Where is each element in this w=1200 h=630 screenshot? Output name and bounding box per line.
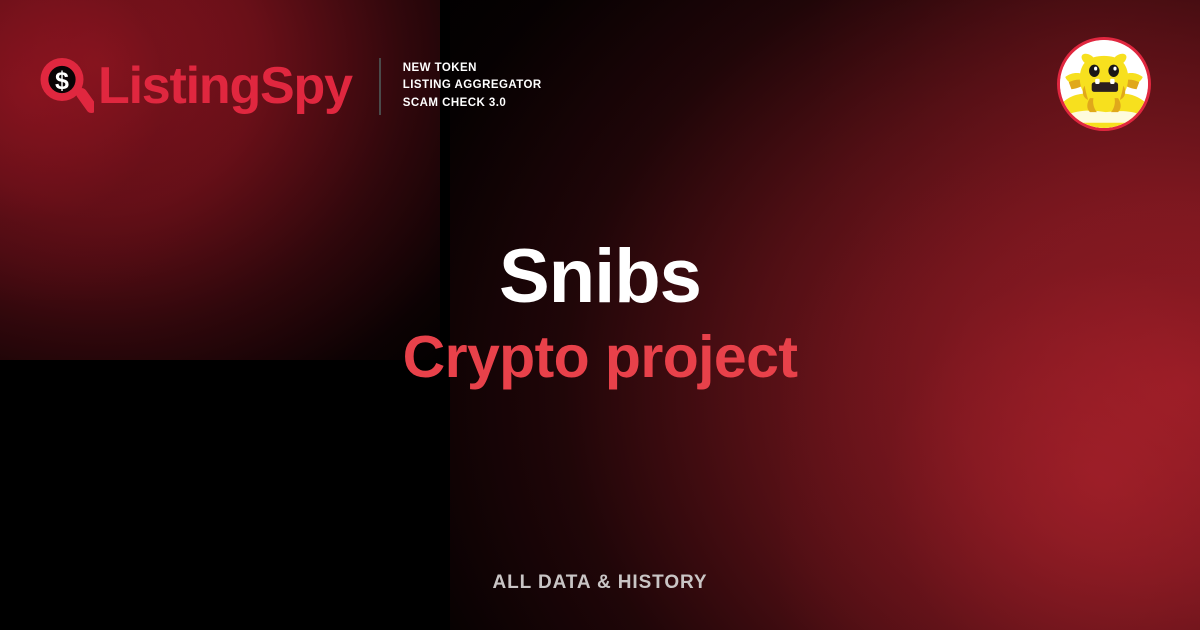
footer: ALL DATA & HISTORY [0, 572, 1200, 594]
brand-tagline: NEW TOKEN LISTING AGGREGATOR SCAM CHECK … [403, 60, 542, 112]
brand-logo[interactable]: $ ListingSpy NEW TOKEN LISTING AGGREGATO… [36, 55, 542, 117]
header: $ ListingSpy NEW TOKEN LISTING AGGREGATO… [0, 0, 1200, 176]
footer-caption: ALL DATA & HISTORY [493, 572, 708, 593]
page-subtitle: Crypto project [0, 325, 1200, 390]
brand-wordmark: ListingSpy [98, 60, 352, 112]
page-title: Snibs [0, 236, 1200, 318]
share-card: $ ListingSpy NEW TOKEN LISTING AGGREGATO… [0, 0, 1200, 630]
yellow-monster-avatar-icon[interactable] [1057, 37, 1151, 131]
tagline-line-1: NEW TOKEN [403, 62, 477, 74]
tagline-line-3: SCAM CHECK 3.0 [403, 97, 506, 109]
svg-text:$: $ [55, 67, 69, 95]
magnifier-dollar-icon: $ [36, 55, 94, 117]
tagline-line-2: LISTING AGGREGATOR [403, 79, 542, 91]
brand-divider [379, 58, 381, 115]
token-headline-block: Snibs Crypto project [0, 236, 1200, 390]
